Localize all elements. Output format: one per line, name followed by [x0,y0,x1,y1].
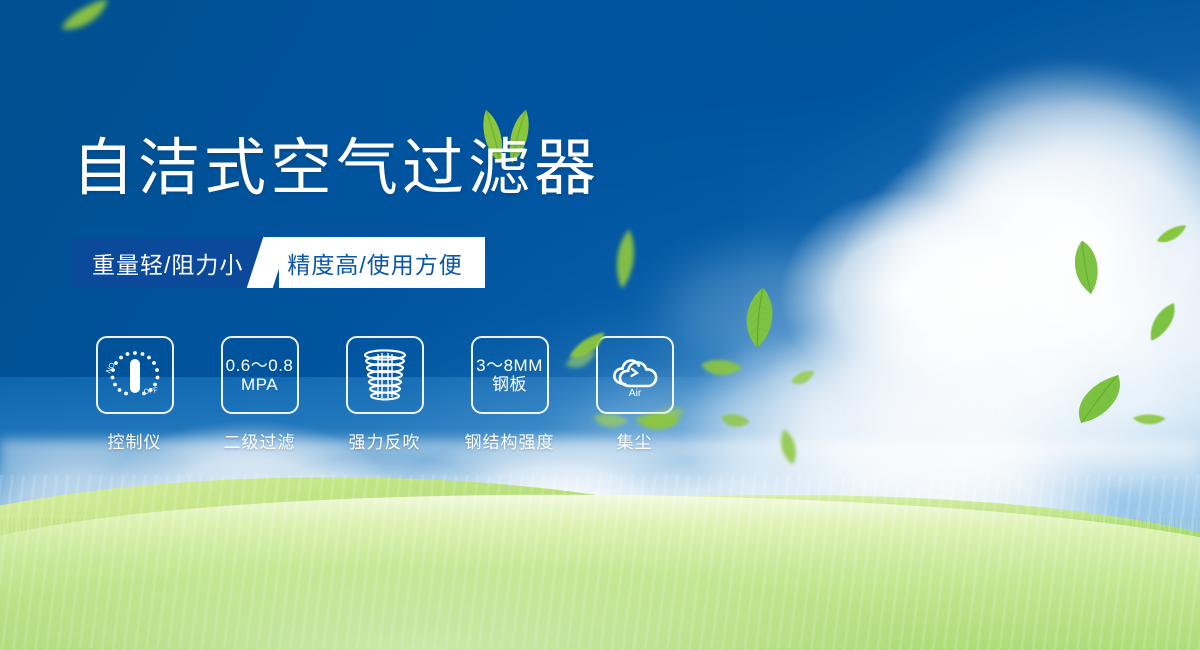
tagline-bar: 重量轻/阻力小 精度高/使用方便 [72,237,485,288]
feature-box-backblow [346,336,424,414]
feature-caption: 钢结构强度 [465,428,555,453]
banner-content: 自洁式空气过滤器 重量轻/阻力小 精度高/使用方便 [0,0,1200,650]
tagline-left: 重量轻/阻力小 [72,237,269,288]
feature-box-pressure: 0.6～0.8 MPA [221,336,299,414]
feature-item-controller[interactable]: NO OFF 控制仪 [72,336,197,453]
steel-material: 钢板 [492,375,527,394]
feature-box-controller: NO OFF [96,336,174,414]
product-banner: 自洁式空气过滤器 重量轻/阻力小 精度高/使用方便 [0,0,1200,650]
feature-caption: 控制仪 [108,428,162,453]
feature-caption: 强力反吹 [349,428,421,453]
feature-item-pressure[interactable]: 0.6～0.8 MPA 二级过滤 [197,336,322,453]
feature-caption: 二级过滤 [224,428,296,453]
pressure-unit: MPA [241,375,278,394]
air-label: Air [628,387,641,398]
page-title: 自洁式空气过滤器 [72,138,600,200]
feature-box-steel: 3～8MM 钢板 [471,336,549,414]
feature-item-steel[interactable]: 3～8MM 钢板 钢结构强度 [447,336,572,453]
steel-thickness: 3～8MM [476,356,543,375]
dial-label-off: OFF [143,387,158,396]
air-cloud-icon: Air [606,352,664,398]
feature-item-backblow[interactable]: 强力反吹 [322,336,447,453]
feature-list: NO OFF 控制仪 0.6～0.8 MPA 二级过滤 [72,336,697,453]
pressure-value: 0.6～0.8 [226,356,294,375]
tagline-right: 精度高/使用方便 [279,237,484,288]
control-dial-icon: NO OFF [104,344,166,406]
filter-cartridge-icon [357,346,413,404]
